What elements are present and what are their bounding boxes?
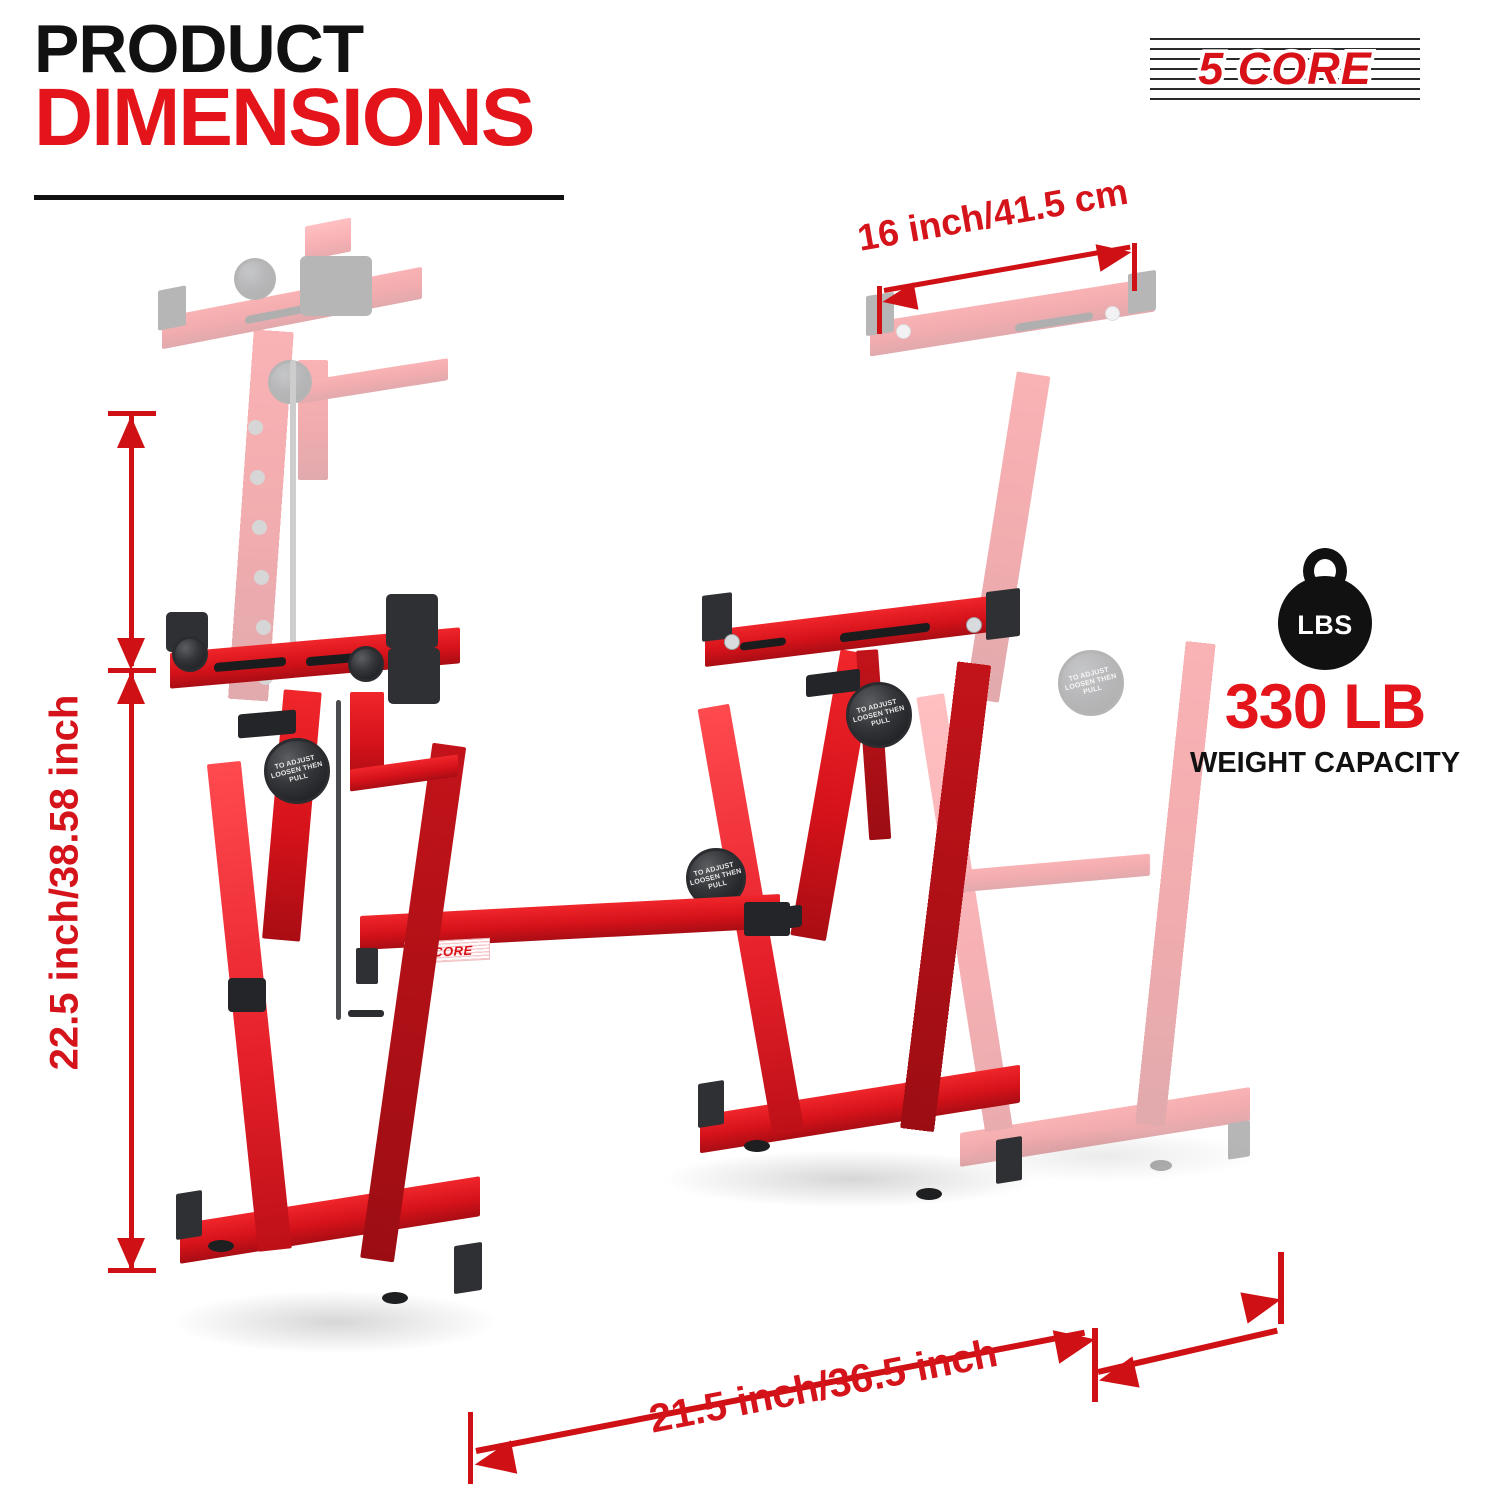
arrow-shaft-height-upper (129, 416, 134, 666)
arrowhead-top-right (1096, 238, 1134, 271)
tick-height-bottom (108, 1268, 156, 1273)
arrowhead-height-upper-bottom (117, 638, 145, 670)
adjust-knob-ghost: TO ADJUST LOOSEN THEN PULL (1058, 650, 1124, 716)
infographic-page: PRODUCT DIMENSIONS 5 CORE (0, 0, 1500, 1500)
weight-capacity-caption: WEIGHT CAPACITY (1170, 747, 1480, 780)
knob-label-ghost: TO ADJUST LOOSEN THEN PULL (1059, 664, 1123, 702)
dimension-label-height-left: 22.5 inch/38.58 inch (43, 603, 88, 1163)
knob-label-right-lower: TO ADJUST LOOSEN THEN PULL (687, 860, 745, 896)
weight-icon: LBS (1275, 548, 1375, 660)
weight-capacity-value: 330 LB (1170, 676, 1480, 739)
tick-top-right (1132, 243, 1137, 291)
adjust-knob-right-upper[interactable]: TO ADJUST LOOSEN THEN PULL (846, 682, 912, 748)
weight-ball-icon: LBS (1278, 576, 1372, 670)
adjust-knob-left-side[interactable] (172, 636, 208, 672)
weight-capacity-badge: LBS 330 LB WEIGHT CAPACITY (1170, 548, 1480, 780)
adjust-knob-left-mid[interactable] (348, 646, 384, 682)
arrowhead-height-upper-top (117, 416, 145, 448)
foot-pad-left-a (208, 1240, 234, 1252)
foot-pad-right-b (916, 1188, 942, 1200)
foot-pad-left-b (382, 1292, 408, 1304)
floor-shadow-left (170, 1290, 500, 1354)
arrowhead-top-left (880, 282, 918, 315)
arrow-shaft-height-lower (129, 672, 134, 1272)
arrowhead-height-lower-top (117, 672, 145, 704)
weight-icon-text: LBS (1297, 610, 1353, 641)
adjust-knob-left-upper[interactable]: TO ADJUST LOOSEN THEN PULL (264, 738, 330, 804)
knob-label-right-upper: TO ADJUST LOOSEN THEN PULL (847, 696, 911, 734)
foot-pad-right-a (744, 1140, 770, 1152)
arrowhead-height-lower-bottom (117, 1238, 145, 1270)
knob-label-left-upper: TO ADJUST LOOSEN THEN PULL (265, 752, 329, 790)
